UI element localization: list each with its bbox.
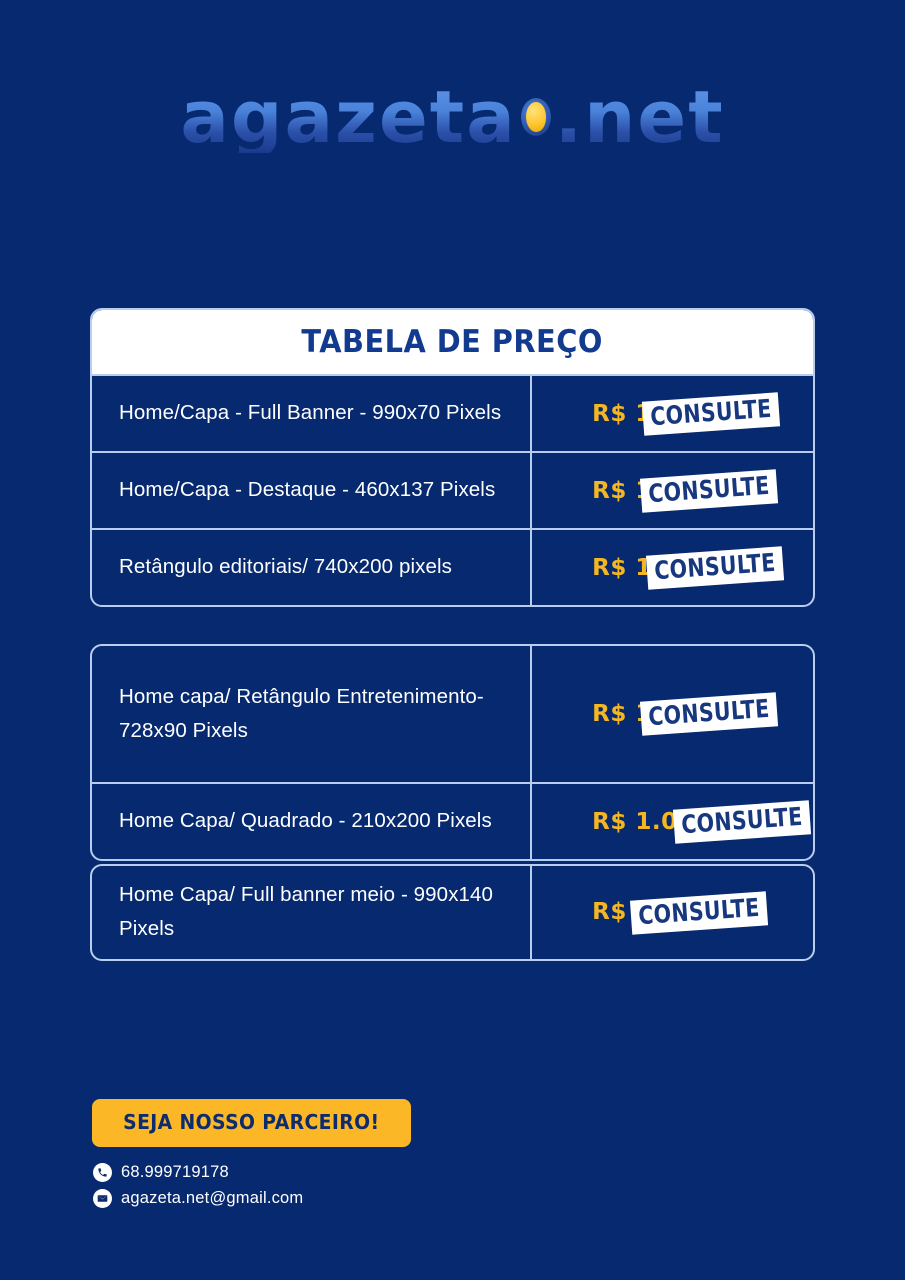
consulte-sticker: CONSULTE [630,891,768,934]
consulte-sticker: CONSULTE [646,546,784,589]
table-row: Retângulo editoriais/ 740x200 pixels R$ … [92,528,813,605]
table-cell-description: Retângulo editoriais/ 740x200 pixels [92,530,532,605]
price-table-group-3: Home Capa/ Full banner meio - 990x140 Pi… [90,864,815,961]
cta-label: SEJA NOSSO PARCEIRO! [123,1110,379,1134]
envelope-icon [93,1189,112,1208]
consulte-sticker: CONSULTE [640,693,778,736]
table-row: Home/Capa - Full Banner - 990x70 Pixels … [92,374,813,451]
table-row: Home Capa/ Full banner meio - 990x140 Pi… [92,866,813,959]
table-cell-price: R$ 1.000,00 CONSULTE [532,453,813,528]
contact-block: 68.999719178 agazeta.net@gmail.com [93,1160,303,1212]
table-row: Home capa/ Retângulo Entretenimento- 728… [92,646,813,782]
table-row: Home/Capa - Destaque - 460x137 Pixels R$… [92,451,813,528]
table-cell-price: R$ 1.000,00 CONSULTE [532,784,813,859]
logo-text-agazeta: agazeta [180,81,516,153]
table-cell-description: Home capa/ Retângulo Entretenimento- 728… [92,646,532,782]
price-table-group-2: Home capa/ Retângulo Entretenimento- 728… [90,644,815,861]
table-cell-price: R$ 1.000,00 CONSULTE [532,530,813,605]
gold-dot-icon [519,94,553,140]
price-table-header: TABELA DE PREÇO [92,310,813,374]
table-cell-price: R$ 1.000,00 CONSULTE [532,376,813,451]
table-cell-description: Home Capa/ Full banner meio - 990x140 Pi… [92,866,532,959]
email-address: agazeta.net@gmail.com [121,1189,303,1208]
consulte-sticker: CONSULTE [642,392,780,435]
table-row: Home Capa/ Quadrado - 210x200 Pixels R$ … [92,782,813,859]
consulte-sticker: CONSULTE [640,469,778,512]
table-cell-description: Home Capa/ Quadrado - 210x200 Pixels [92,784,532,859]
table-cell-description: Home/Capa - Full Banner - 990x70 Pixels [92,376,532,451]
table-cell-price: R$ 1.000,00 CONSULTE [532,866,813,959]
seja-nosso-parceiro-button[interactable]: SEJA NOSSO PARCEIRO! [92,1099,411,1147]
phone-number: 68.999719178 [121,1163,229,1182]
site-logo: agazeta .net [0,72,905,162]
phone-icon [93,1163,112,1182]
table-cell-price: R$ 1.000,00 CONSULTE [532,646,813,782]
contact-row-email[interactable]: agazeta.net@gmail.com [93,1186,303,1210]
logo-text-net: .net [555,81,725,153]
table-cell-description: Home/Capa - Destaque - 460x137 Pixels [92,453,532,528]
contact-row-phone[interactable]: 68.999719178 [93,1160,303,1184]
price-table-group-1: TABELA DE PREÇO Home/Capa - Full Banner … [90,308,815,607]
page-title: TABELA DE PREÇO [302,324,603,360]
consulte-sticker: CONSULTE [673,800,811,843]
